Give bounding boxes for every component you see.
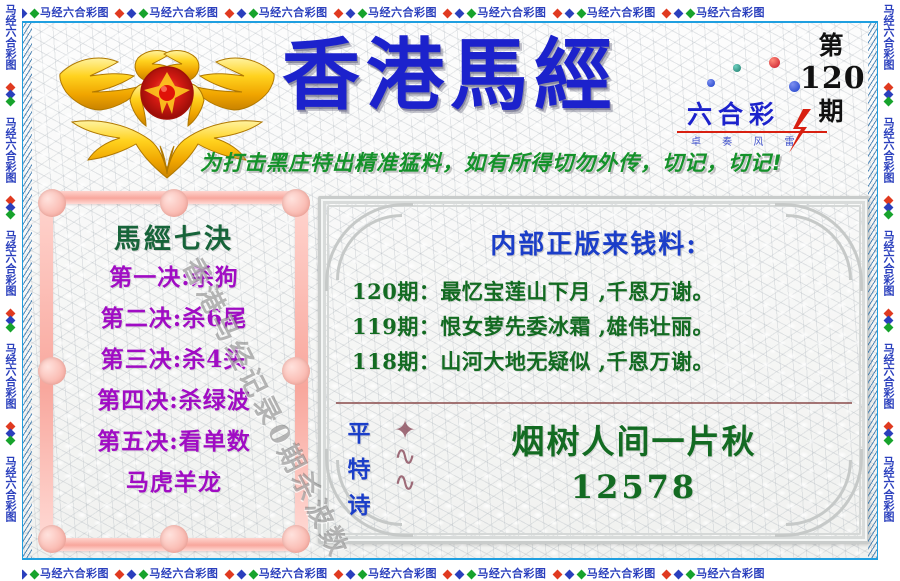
verse-numbers: 12578	[434, 468, 834, 506]
page-title: 香港馬經	[282, 37, 618, 115]
poster-canvas: 马经六合彩图 马经六合彩图 马经六合彩图 马经六合彩图 马经六合彩图 马经六合彩…	[0, 0, 900, 581]
border-label: 马经六合彩图	[4, 456, 17, 522]
diamond-icon	[564, 9, 574, 19]
diamond-icon	[334, 9, 344, 19]
section-divider	[336, 402, 852, 404]
ribbon-bow-bottom-left	[38, 525, 66, 553]
border-right-text: 马经六合彩图 马经六合彩图 马经六合彩图 马经六合彩图 马经六合彩图	[882, 4, 895, 522]
diamond-icon	[884, 97, 894, 107]
left-panel: 馬經七決 第一决:杀狗 第二决:杀6尾 第三决:杀4头 第四决:杀绿波 第五决:…	[34, 185, 314, 557]
hatch-strip-right	[868, 23, 877, 558]
border-label: 马经六合彩图	[882, 230, 895, 296]
border-top-text: 马经六合彩图 马经六合彩图 马经六合彩图 马经六合彩图 马经六合彩图 马经六合彩…	[4, 4, 765, 20]
diamond-icon	[248, 570, 258, 580]
border-label: 马经六合彩图	[259, 567, 328, 580]
list-item: 马虎羊龙	[34, 462, 314, 503]
diamond-icon	[467, 9, 477, 19]
diamond-icon	[6, 210, 16, 220]
border-label: 马经六合彩图	[477, 6, 546, 19]
ribbon-bow-top-center	[160, 189, 188, 217]
border-label: 马经六合彩图	[477, 567, 546, 580]
diamond-icon	[884, 210, 894, 220]
border-label: 马经六合彩图	[40, 567, 109, 580]
diamond-icon	[686, 9, 696, 19]
diamond-icon	[346, 570, 356, 580]
ribbon-bow-bottom-right	[282, 525, 310, 553]
lottery-ball	[707, 79, 715, 87]
list-item: 118期：山河大地无疑似 ,千恩万谢。	[352, 344, 852, 379]
header-tagline: 为打击黑庄特出精准猛料，如有所得切勿外传，切记，切记!	[200, 147, 783, 177]
border-label: 马经六合彩图	[4, 4, 17, 70]
border-label: 马经六合彩图	[368, 6, 437, 19]
diamond-icon	[346, 9, 356, 19]
diamond-icon	[455, 9, 465, 19]
list-item: 第四决:杀绿波	[34, 380, 314, 421]
lottery-ball	[789, 81, 800, 92]
diamond-icon	[6, 436, 16, 446]
lotto-label: 六合彩	[687, 95, 780, 131]
poster-header: 香港馬經 六合彩 卓 奏 风 雷 第 120 期 为打击黑庄特出精准猛料，如有所…	[32, 23, 868, 183]
border-label: 马经六合彩图	[368, 567, 437, 580]
diamond-icon	[686, 570, 696, 580]
diamond-icon	[552, 9, 562, 19]
diamond-icon	[6, 97, 16, 107]
diamond-icon	[443, 570, 453, 580]
diamond-icon	[576, 9, 586, 19]
diamond-icon	[884, 436, 894, 446]
right-panel-title: 内部正版来钱料:	[330, 224, 858, 261]
diamond-icon	[127, 9, 137, 19]
border-label: 马经六合彩图	[4, 117, 17, 183]
list-item: 119期：恨女萝先委冰霜 ,雄伟壮丽。	[352, 309, 852, 344]
diamond-icon	[443, 9, 453, 19]
diamond-icon	[662, 570, 672, 580]
border-label: 马经六合彩图	[149, 567, 218, 580]
diamond-icon	[139, 9, 149, 19]
diamond-icon	[576, 570, 586, 580]
diamond-icon	[115, 9, 125, 19]
border-label: 马经六合彩图	[882, 343, 895, 409]
diamond-icon	[30, 570, 40, 580]
left-panel-title: 馬經七決	[34, 217, 314, 256]
list-item: 第五决:看单数	[34, 421, 314, 462]
border-left-text: 马经六合彩图 马经六合彩图 马经六合彩图 马经六合彩图 马经六合彩图	[4, 4, 17, 522]
diamond-icon	[552, 570, 562, 580]
border-label: 马经六合彩图	[882, 4, 895, 70]
diamond-icon	[358, 9, 368, 19]
diamond-icon	[30, 9, 40, 19]
ribbon-bow-bottom-center	[160, 525, 188, 553]
diamond-icon	[662, 9, 672, 19]
border-left: 马经六合彩图 马经六合彩图 马经六合彩图 马经六合彩图 马经六合彩图	[0, 0, 22, 581]
hatch-strip-left	[23, 23, 32, 558]
border-label: 马经六合彩图	[882, 456, 895, 522]
lottery-ball	[769, 57, 780, 68]
list-item: 第三决:杀4头	[34, 339, 314, 380]
list-item: 120期：最忆宝莲山下月 ,千恩万谢。	[352, 274, 852, 309]
verse-label: 平特诗	[342, 416, 376, 524]
border-label: 马经六合彩图	[696, 6, 765, 19]
diamond-icon	[236, 9, 246, 19]
border-bottom-text: 马经六合彩图 马经六合彩图 马经六合彩图 马经六合彩图 马经六合彩图 马经六合彩…	[4, 565, 765, 581]
border-label: 马经六合彩图	[4, 343, 17, 409]
scroll-ornament-icon: ✦∿∿	[388, 418, 422, 522]
verse-text: 烟树人间一片秋	[434, 420, 834, 464]
diamond-icon	[6, 323, 16, 333]
list-item: 第二决:杀6尾	[34, 298, 314, 339]
list-item: 第一决:杀狗	[34, 257, 314, 298]
border-label: 马经六合彩图	[587, 567, 656, 580]
diamond-icon	[884, 323, 894, 333]
issue-suffix: 期	[800, 97, 862, 127]
border-label: 马经六合彩图	[40, 6, 109, 19]
inner-rule-top	[20, 21, 882, 23]
right-panel: 内部正版来钱料: 120期：最忆宝莲山下月 ,千恩万谢。 119期：恨女萝先委冰…	[330, 206, 858, 534]
diamond-icon	[127, 570, 137, 580]
border-bottom: 马经六合彩图 马经六合彩图 马经六合彩图 马经六合彩图 马经六合彩图 马经六合彩…	[0, 560, 900, 581]
border-label: 马经六合彩图	[259, 6, 328, 19]
diamond-icon	[236, 570, 246, 580]
prediction-list: 120期：最忆宝莲山下月 ,千恩万谢。 119期：恨女萝先委冰霜 ,雄伟壮丽。 …	[352, 274, 852, 379]
verse-block: 平特诗 ✦∿∿ 烟树人间一片秋 12578	[336, 410, 852, 528]
diamond-icon	[224, 9, 234, 19]
left-panel-list: 第一决:杀狗 第二决:杀6尾 第三决:杀4头 第四决:杀绿波 第五决:看单数 马…	[34, 257, 314, 503]
diamond-icon	[358, 570, 368, 580]
border-label: 马经六合彩图	[696, 567, 765, 580]
diamond-icon	[139, 570, 149, 580]
border-label: 马经六合彩图	[4, 230, 17, 296]
lottery-ball	[733, 64, 741, 72]
issue-number-block: 第 120 期	[800, 31, 862, 127]
issue-prefix: 第	[800, 31, 862, 61]
diamond-icon	[674, 9, 684, 19]
diamond-icon	[115, 570, 125, 580]
diamond-icon	[564, 570, 574, 580]
border-right: 马经六合彩图 马经六合彩图 马经六合彩图 马经六合彩图 马经六合彩图	[878, 0, 900, 581]
border-label: 马经六合彩图	[149, 6, 218, 19]
border-label: 马经六合彩图	[587, 6, 656, 19]
issue-number: 120	[800, 61, 862, 97]
diamond-icon	[467, 570, 477, 580]
border-top: 马经六合彩图 马经六合彩图 马经六合彩图 马经六合彩图 马经六合彩图 马经六合彩…	[0, 0, 900, 21]
diamond-icon	[674, 570, 684, 580]
diamond-icon	[224, 570, 234, 580]
diamond-icon	[248, 9, 258, 19]
ribbon-bow-top-left	[38, 189, 66, 217]
diamond-icon	[455, 570, 465, 580]
border-label: 马经六合彩图	[882, 117, 895, 183]
diamond-icon	[334, 570, 344, 580]
ribbon-bow-top-right	[282, 189, 310, 217]
